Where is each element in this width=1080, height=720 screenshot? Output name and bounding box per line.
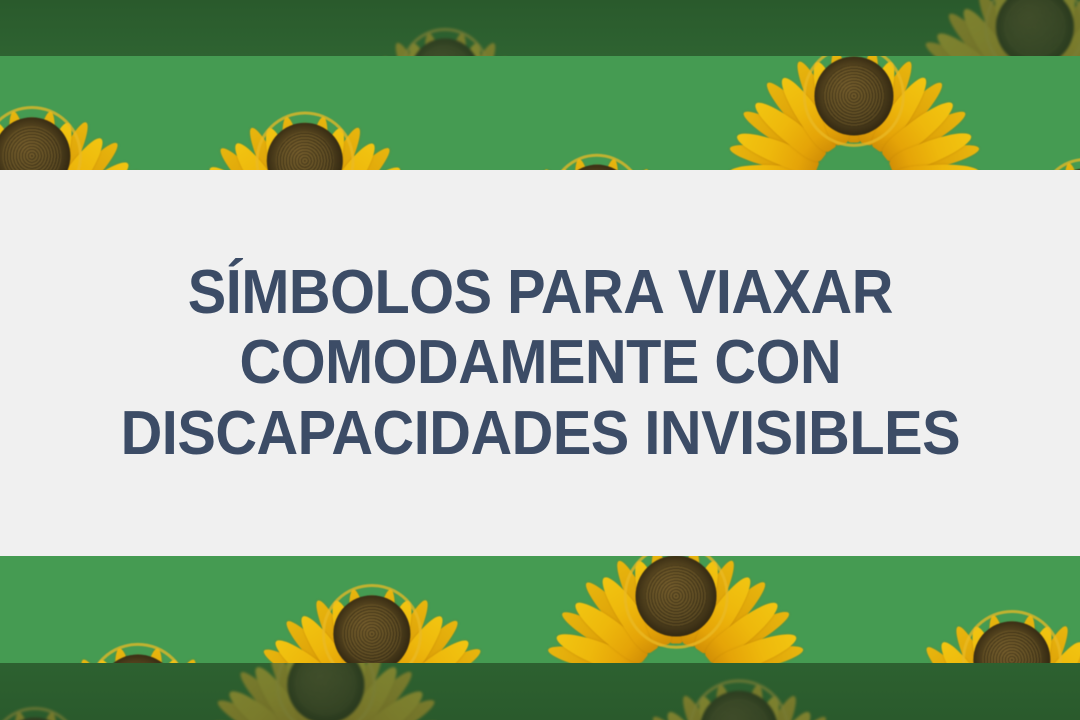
sunflower-petal <box>893 161 980 170</box>
sunflower-petal <box>774 72 841 156</box>
sunflower-petal <box>887 126 975 170</box>
sunflower-petal <box>294 123 316 170</box>
sunflower-petal <box>0 119 23 170</box>
sunflower-petal <box>806 59 853 148</box>
sunflower-icon <box>768 56 940 170</box>
headline-line-2: COMODAMENTE CON <box>120 331 960 394</box>
sunflower-petal <box>864 58 918 143</box>
sunflower-petal <box>665 556 688 644</box>
sunflower-petal <box>234 666 304 720</box>
sunflower-disc <box>333 595 410 663</box>
sunflower-petals <box>242 663 410 720</box>
sunflower-petal <box>53 137 123 170</box>
sunflower-petals <box>518 122 676 170</box>
sunflower-petal <box>921 36 1004 56</box>
sunflower-petal <box>711 684 742 720</box>
sunflower-petal <box>843 56 865 142</box>
sunflower-petal <box>280 615 350 663</box>
sunflower-icon <box>950 0 1080 56</box>
sunflower-disc <box>411 39 480 57</box>
sunflower-petal <box>4 110 35 170</box>
sunflower-petal <box>1045 0 1080 56</box>
headline-line-3: DISCAPACIDADES INVISIBLES <box>120 402 960 465</box>
sunflower-petal <box>1013 624 1059 663</box>
sunflower-petal <box>1048 3 1080 56</box>
sunflower-petal <box>446 40 487 56</box>
sunflower-icon <box>1010 128 1080 170</box>
sunflower-petal <box>1066 36 1080 56</box>
sunflower-ring <box>256 112 355 170</box>
sunflower-ring <box>276 663 376 720</box>
headline-panel: SÍMBOLOS PARA VIAXAR COMODAMENTE CON DIS… <box>0 170 1080 556</box>
sunflower-petal <box>646 711 717 720</box>
sunflower-petal <box>686 557 741 644</box>
sunflower-petal <box>279 663 325 720</box>
sunflower-petal <box>676 692 730 720</box>
sunflower-ring <box>550 154 644 170</box>
sunflower-petal <box>1025 637 1080 663</box>
sunflower-petal <box>1056 8 1080 56</box>
sunflower-ring <box>984 0 1080 56</box>
sunflower-petal <box>314 124 366 170</box>
sunflower-petal <box>45 133 110 170</box>
sunflower-petal <box>294 611 359 663</box>
sunflower-petal <box>752 706 818 720</box>
sunflower-petal <box>886 105 970 164</box>
sunflower-petal <box>1007 0 1038 56</box>
sunflower-petal <box>1021 623 1074 663</box>
sunflower-petal <box>326 142 396 170</box>
sunflower-petals <box>768 56 940 170</box>
sunflower-petals <box>928 576 1080 663</box>
sunflower-icon <box>588 556 764 663</box>
sunflower-petals <box>0 72 116 170</box>
sunflower-petal <box>950 623 1003 663</box>
headline-line-1: SÍMBOLOS PARA VIAXAR <box>120 261 960 324</box>
sunflower-petal <box>41 119 94 170</box>
sunflower-petal <box>546 640 636 663</box>
sunflower-petal <box>931 26 1011 56</box>
sunflower-petal <box>689 571 757 657</box>
sunflower-disc <box>0 117 71 170</box>
sunflower-petal <box>243 124 295 170</box>
sunflower-petal <box>893 139 981 170</box>
sunflower-petal <box>323 663 354 720</box>
sunflower-petal <box>647 556 679 638</box>
sunflower-petal <box>1001 621 1023 663</box>
sunflower-petal <box>851 56 882 137</box>
sunflower-petal <box>135 647 166 663</box>
sunflower-petal <box>335 663 388 720</box>
sunflower-petal <box>259 125 304 170</box>
sunflower-petal <box>10 711 37 720</box>
sunflower-disc <box>700 691 778 720</box>
sunflower-petal <box>867 72 934 156</box>
sunflower-petal <box>369 588 400 663</box>
sunflower-petal <box>393 615 463 663</box>
sunflower-petal <box>442 32 469 56</box>
sunflower-petal <box>298 663 329 720</box>
page-title: SÍMBOLOS PARA VIAXAR COMODAMENTE CON DIS… <box>120 254 960 472</box>
sunflower-petal <box>214 142 284 170</box>
sunflower-disc <box>267 123 343 170</box>
top-light-green-strip <box>0 56 1080 170</box>
sunflower-petal <box>673 556 705 638</box>
sunflower-petals <box>288 556 456 663</box>
sunflower-petal <box>0 120 31 170</box>
sunflower-petal <box>204 160 282 170</box>
sunflower-petal <box>934 637 999 663</box>
sunflower-petal <box>728 691 750 720</box>
sunflower-petal <box>1032 0 1063 56</box>
sunflower-petal <box>213 694 295 720</box>
sunflower-petal <box>1060 162 1080 170</box>
sunflower-petal <box>0 137 11 170</box>
sunflower-petal <box>0 155 9 170</box>
sunflower-petal <box>310 597 363 663</box>
sunflower-petal <box>435 39 455 57</box>
sunflower-petal <box>347 666 417 720</box>
sunflower-petal <box>339 663 404 720</box>
sunflower-petal <box>728 161 815 170</box>
sunflower-petal <box>55 155 134 170</box>
sunflower-petal <box>740 693 786 720</box>
sunflower-icon <box>0 677 110 720</box>
sunflower-petals <box>654 663 824 720</box>
sunflower-petal <box>21 117 43 170</box>
sunflower-icon <box>0 72 116 170</box>
sunflower-petal <box>315 663 337 720</box>
sunflower-petals <box>950 0 1080 56</box>
sunflower-petal <box>110 647 141 663</box>
sunflower-petal <box>420 32 447 56</box>
sunflower-ring <box>0 106 82 170</box>
sunflower-petal <box>357 694 439 720</box>
sunflower-petal <box>381 597 434 663</box>
sunflower-petal <box>580 576 654 653</box>
sunflower-petal <box>876 77 948 153</box>
sunflower-petal <box>568 595 651 663</box>
sunflower-petal <box>33 120 79 170</box>
sunflower-petal <box>403 40 444 56</box>
sunflower-petal <box>760 77 832 153</box>
sunflower-petal <box>361 595 383 663</box>
sunflower-petal <box>972 0 1026 56</box>
sunflower-petals <box>1010 128 1080 170</box>
sunflower-petal <box>148 656 202 663</box>
sunflower-disc <box>973 621 1050 663</box>
sunflower-petal <box>749 692 803 720</box>
sunflower-petal <box>403 643 485 663</box>
sunflower-petal <box>264 663 317 720</box>
sunflower-petal <box>878 95 959 166</box>
sunflower-petals <box>370 0 520 56</box>
sunflower-icon <box>288 556 456 663</box>
sunflower-disc <box>636 556 717 636</box>
sunflower-ring <box>1040 158 1080 170</box>
sunflower-petal <box>760 711 831 720</box>
sunflower-petal <box>942 8 1013 56</box>
sunflower-petal <box>1009 614 1040 663</box>
sunflower-petal <box>395 633 474 663</box>
sunflower-petal <box>259 643 341 663</box>
sunflower-ring <box>962 610 1062 663</box>
sunflower-petal <box>1036 0 1080 56</box>
sunflower-ring <box>624 556 729 648</box>
sunflower-petal <box>611 557 666 644</box>
sunflower-petal <box>223 684 302 720</box>
sunflower-petal <box>627 558 675 649</box>
sunflower-petal <box>594 571 662 657</box>
sunflower-petal <box>453 40 500 56</box>
sunflower-petal <box>0 133 19 170</box>
sunflower-icon <box>518 122 676 170</box>
sunflower-petal <box>677 558 725 649</box>
sunflower-petal <box>552 626 642 663</box>
sunflower-petal <box>708 605 794 663</box>
sunflower-petal <box>385 611 450 663</box>
sunflower-icon <box>654 663 824 720</box>
sunflower-petal <box>1033 641 1080 663</box>
sunflower-icon <box>370 0 520 56</box>
sunflower-petals <box>52 608 224 663</box>
sunflower-petal <box>701 595 784 663</box>
sunflower-petal <box>373 598 419 663</box>
sunflower-petal <box>558 605 644 663</box>
bottom-light-green-strip <box>0 556 1080 663</box>
sunflower-petal <box>127 654 149 663</box>
sunflower-petal <box>660 706 726 720</box>
sunflower-ring <box>322 584 422 663</box>
sunflower-petal <box>956 3 1022 56</box>
sunflower-petal <box>208 714 294 720</box>
sunflower-ring <box>87 643 189 663</box>
sunflower-petal <box>736 684 767 720</box>
sunflower-icon <box>52 608 224 663</box>
top-dark-green-strip <box>0 0 1080 56</box>
sunflower-petal <box>698 576 772 653</box>
sunflower-petal <box>302 116 332 170</box>
sunflower-petal <box>1059 26 1080 56</box>
sunflower-petal <box>855 59 902 148</box>
sunflower-petal <box>920 641 990 663</box>
sunflower-disc <box>996 0 1074 56</box>
sunflower-ring <box>400 28 490 56</box>
sunflower-disc <box>287 663 364 720</box>
sunflower-petal <box>29 110 60 170</box>
sunflower-petal <box>965 624 1011 663</box>
sunflower-petal <box>826 56 857 137</box>
sunflower-petals <box>0 677 110 720</box>
sunflower-petal <box>988 0 1034 56</box>
sunflower-petal <box>325 598 371 663</box>
sunflower-petal <box>328 160 406 170</box>
sunflower-petal <box>318 138 383 170</box>
sunflower-petal <box>74 656 128 663</box>
sunflower-ring <box>0 707 80 720</box>
sunflower-petal <box>739 105 823 164</box>
sunflower-petal <box>32 711 59 720</box>
sunflower-petals <box>222 78 388 170</box>
sunflower-petal <box>692 693 738 720</box>
sunflower-petal <box>228 138 293 170</box>
sunflower-petals <box>588 556 764 663</box>
sunflower-petal <box>349 684 428 720</box>
sunflower-petal <box>749 95 830 166</box>
bottom-dark-green-strip <box>0 663 1080 720</box>
sunflower-icon <box>242 663 410 720</box>
sunflower-petal <box>594 158 623 170</box>
sunflower-petal <box>358 714 444 720</box>
sunflower-petal <box>344 588 375 663</box>
sunflower-petal <box>571 158 600 170</box>
sunflower-petal <box>716 640 806 663</box>
sunflower-disc <box>814 56 893 135</box>
sunflower-icon <box>928 576 1080 663</box>
sunflower-petal <box>1024 0 1046 56</box>
sunflower-petal <box>248 663 313 720</box>
sunflower-petal <box>278 116 308 170</box>
sunflower-petal <box>727 139 815 170</box>
sunflower-petal <box>389 40 436 56</box>
sunflower-petal <box>733 126 821 170</box>
sunflower-icon <box>222 78 388 170</box>
sunflower-petal <box>306 125 351 170</box>
sunflower-petal <box>269 633 348 663</box>
sunflower-petal <box>327 663 373 720</box>
sunflower-disc <box>98 654 177 663</box>
sunflower-petal <box>790 58 844 143</box>
sunflower-petal <box>984 614 1015 663</box>
sunflower-petal <box>710 626 800 663</box>
sunflower-ring <box>803 56 905 147</box>
poster-canvas: SÍMBOLOS PARA VIAXAR COMODAMENTE CON DIS… <box>0 0 1080 720</box>
sunflower-ring <box>688 679 789 720</box>
